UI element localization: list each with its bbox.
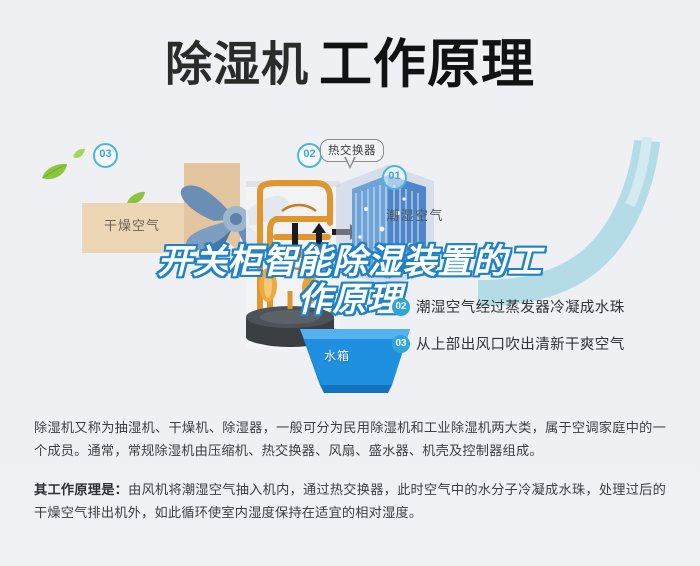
caption-badge-03: 03 [392, 335, 410, 353]
badge-02-heat-exchanger: 02 [297, 143, 322, 168]
infographic-page: 除湿机工作原理 [0, 0, 700, 566]
page-title: 除湿机工作原理 [0, 22, 700, 98]
badge-03-dry-air: 03 [93, 143, 118, 168]
body-copy: 除湿机又称为抽湿机、干燥机、除湿器，一般可分为民用除湿机和工业除湿机两大类，属于… [34, 416, 666, 540]
caption-text-02: 潮湿空气经过蒸发器冷凝成水珠 [416, 296, 625, 317]
caption-list: 02 潮湿空气经过蒸发器冷凝成水珠 03 从上部出风口吹出清新干爽空气 [392, 296, 692, 370]
caption-item-02: 02 潮湿空气经过蒸发器冷凝成水珠 [392, 296, 692, 317]
paragraph-1: 除湿机又称为抽湿机、干燥机、除湿器，一般可分为民用除湿机和工业除湿机两大类，属于… [34, 416, 666, 462]
caption-badge-02: 02 [392, 298, 410, 316]
page-title-part2: 工作原理 [319, 35, 535, 94]
paragraph-2: 其工作原理是：由风机将潮湿空气抽入机内，通过热交换器，此时空气中的水分子冷凝成水… [34, 478, 666, 524]
leaf-icon-small [72, 148, 86, 160]
caption-text-03: 从上部出风口吹出清新干爽空气 [416, 333, 625, 354]
callout-pointer-icon [344, 157, 356, 169]
paragraph-2-rest: 由风机将潮湿空气抽入机内，通过热交换器，此时空气中的水分子冷凝成水珠，处理过后的… [34, 482, 666, 520]
badge-01-humid-air: 01 [382, 165, 407, 190]
leaf-icon [40, 162, 68, 182]
water-tank-label: 水箱 [324, 347, 350, 364]
paragraph-2-lead: 其工作原理是： [34, 482, 128, 497]
humid-air-label: 潮湿空气 [386, 205, 444, 224]
caption-item-03: 03 从上部出风口吹出清新干爽空气 [392, 333, 692, 354]
page-title-part1: 除湿机 [165, 38, 309, 91]
